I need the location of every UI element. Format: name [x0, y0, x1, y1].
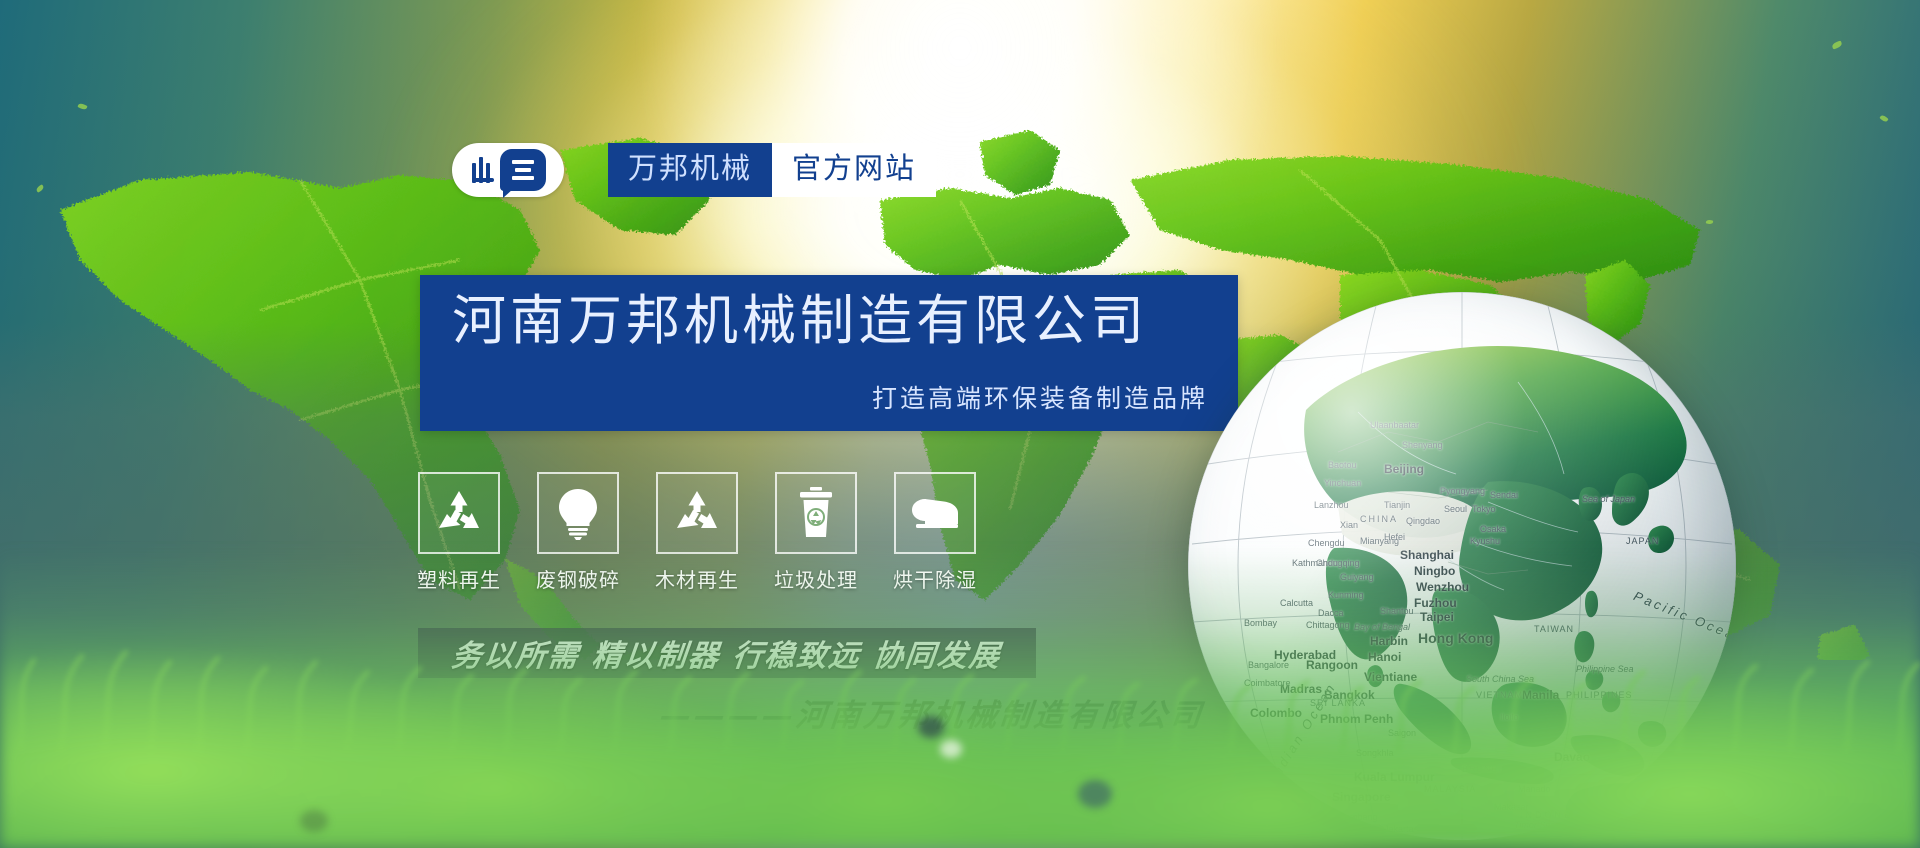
logo-w-underline-icon [472, 178, 494, 182]
globe-label: Hanoi [1368, 650, 1401, 664]
feature-icon-box[interactable] [537, 472, 619, 554]
feature-item-wood-recycling[interactable]: 木材再生 [656, 472, 738, 593]
globe-country-label: BRUNEI [1462, 764, 1502, 774]
globe-country-label: INDONESIA [1520, 810, 1597, 820]
globe-ocean-label: Timor Sea [1514, 820, 1555, 830]
globe-label: Darwin [1552, 826, 1592, 840]
globe-label: Baotou [1328, 460, 1357, 470]
globe-label: Hong Kong [1418, 630, 1493, 646]
globe-label: Bandung [1348, 832, 1384, 840]
globe-label: Kunming [1328, 590, 1364, 600]
globe-label: Tianjin [1384, 500, 1410, 510]
globe-label: Davao [1554, 750, 1590, 764]
globe-label: Lanzhou [1314, 500, 1349, 510]
globe-label: Ningbo [1414, 564, 1455, 578]
globe-map [1188, 292, 1736, 840]
globe-label: Saigon [1388, 728, 1416, 738]
page-subtitle: 打造高端环保装备制造品牌 [872, 379, 1208, 415]
globe-label: Chengdu [1308, 538, 1345, 548]
globe-label: Dacca [1318, 608, 1344, 618]
tab-brand-name[interactable]: 万邦机械 [608, 143, 772, 197]
globe-label: Bombay [1244, 618, 1277, 628]
globe-label: Colombo [1250, 706, 1302, 720]
recycle-icon [433, 488, 485, 538]
globe-label: Yinchuan [1324, 478, 1361, 488]
site-logo-row[interactable]: 万邦机械 官方网站 [452, 142, 936, 198]
globe-label: Vientiane [1364, 670, 1417, 684]
hero-headline-panel: 河南万邦机械制造有限公司 打造高端环保装备制造品牌 [420, 275, 1238, 431]
feature-label: 木材再生 [655, 564, 739, 593]
globe-country-label: CHINA [1360, 514, 1398, 524]
globe-label: Taipei [1420, 610, 1454, 624]
globe-label: Kyushu [1470, 536, 1500, 546]
feature-item-drying-dehumidifying[interactable]: 烘干除湿 [894, 472, 976, 593]
feature-icon-box[interactable] [894, 472, 976, 554]
globe-country-label: TAIWAN [1534, 624, 1574, 634]
globe-label: Pyongyang [1440, 486, 1485, 496]
globe-sphere: Ulaanbaatar Beijing Baotou Yinchuan Lanz… [1188, 292, 1736, 840]
globe-label: Fuzhou [1414, 596, 1457, 610]
globe-label: Coimbatore [1244, 678, 1291, 688]
logo-speech-bubble-b-icon [500, 149, 546, 191]
globe-label: Iloilo [1500, 712, 1519, 722]
globe-label: Port Moresby [1602, 804, 1656, 814]
globe-label: Jakarta [1384, 824, 1414, 834]
globe-label: Kuala Lumpur [1354, 770, 1435, 784]
globe-label: Wenzhou [1416, 580, 1469, 594]
hero-banner: 万邦机械 官方网站 河南万邦机械制造有限公司 打造高端环保装备制造品牌 塑料再生 [0, 0, 1920, 848]
feature-label: 烘干除湿 [893, 564, 977, 593]
globe-label: Xian [1340, 520, 1358, 530]
globe-label: Hyderabad [1274, 648, 1336, 662]
globe-label: Ulaanbaatar [1370, 420, 1419, 430]
feature-label: 塑料再生 [417, 564, 501, 593]
slogan-bar: 务以所需 精以制器 行稳致远 协同发展 [418, 628, 1036, 678]
globe-label: Shenyang [1402, 440, 1443, 450]
globe-graphic: Ulaanbaatar Beijing Baotou Yinchuan Lanz… [1188, 292, 1736, 840]
globe-ocean-label: Philippine Sea [1576, 664, 1634, 674]
globe-label: Songkhla [1356, 748, 1394, 758]
globe-label: Singapore [1332, 790, 1391, 804]
feature-icon-box[interactable] [418, 472, 500, 554]
globe-label: Chittagong [1306, 620, 1350, 630]
page-title: 河南万邦机械制造有限公司 [452, 293, 1148, 350]
globe-label: Shantou [1380, 606, 1414, 616]
globe-country-label: JAPAN [1626, 536, 1659, 546]
slogan-attribution: ————河南万邦机械制造有限公司 [658, 690, 1207, 735]
brand-mark[interactable] [452, 143, 564, 197]
globe-country-label: MALAYSIA [1424, 784, 1476, 794]
globe-label: Seoul [1444, 504, 1467, 514]
globe-label: Manila [1522, 688, 1559, 702]
globe-country-label: VIETNAM [1476, 690, 1523, 700]
globe-label: Kathmandu [1292, 558, 1338, 568]
feature-icon-box[interactable] [656, 472, 738, 554]
globe-label: Phnom Penh [1320, 712, 1393, 726]
globe-ocean-label: South China Sea [1466, 674, 1534, 684]
globe-label: Qingdao [1406, 516, 1440, 526]
lightbulb-icon [556, 486, 600, 540]
globe-label: Beijing [1384, 462, 1424, 476]
feature-icon-list: 塑料再生 废钢破碎 [418, 472, 976, 593]
recycle-icon [671, 488, 723, 538]
globe-label: Shanghai [1400, 548, 1454, 562]
globe-label: Sendai [1490, 490, 1518, 500]
globe-ocean-label: Sea of Japan [1582, 494, 1635, 504]
globe-label: Calcutta [1280, 598, 1313, 608]
feature-item-plastic-recycling[interactable]: 塑料再生 [418, 472, 500, 593]
globe-country-label: PHILIPPINES [1566, 690, 1633, 700]
feature-icon-box[interactable] [775, 472, 857, 554]
globe-label: Hefei [1384, 532, 1405, 542]
feature-item-scrap-steel-crushing[interactable]: 废钢破碎 [537, 472, 619, 593]
blower-icon [908, 493, 962, 533]
tab-official-site[interactable]: 官方网站 [772, 143, 936, 197]
globe-label: Palembang [1332, 812, 1378, 822]
globe-country-label: SRI LANKA [1310, 698, 1366, 708]
slogan-text: 务以所需 精以制器 行稳致远 协同发展 [450, 631, 1004, 675]
globe-ocean-label: Bay of Bengal [1354, 622, 1410, 632]
globe-label: Guiyang [1340, 572, 1374, 582]
feature-item-waste-treatment[interactable]: 垃圾处理 [775, 472, 857, 593]
feature-label: 废钢破碎 [536, 564, 620, 593]
globe-label: Osaka [1480, 524, 1506, 534]
globe-label: Harbin [1370, 634, 1408, 648]
feature-label: 垃圾处理 [774, 564, 858, 593]
globe-label: Manado [1518, 784, 1551, 794]
globe-label: Tokyo [1472, 504, 1496, 514]
trash-bin-icon [796, 486, 836, 540]
